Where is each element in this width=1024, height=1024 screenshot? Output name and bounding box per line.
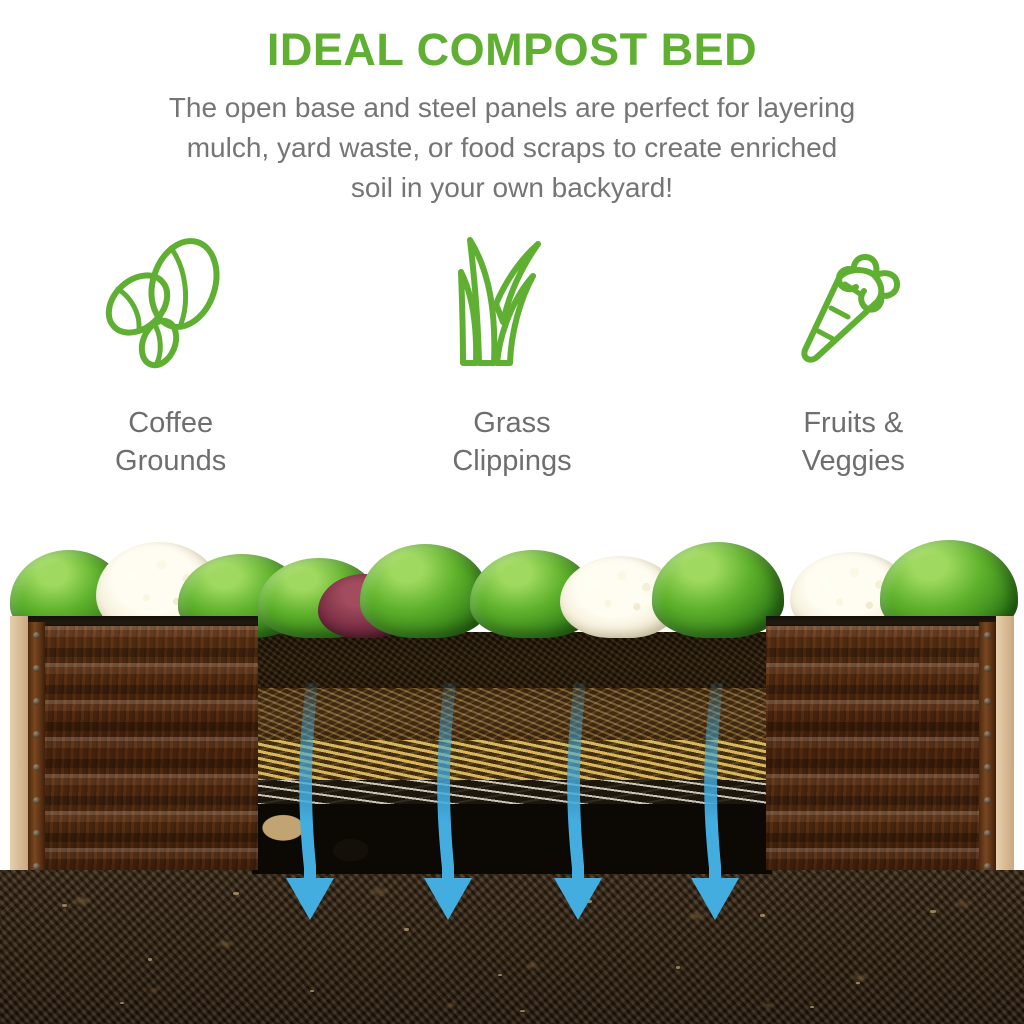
feature-label-line-1: Grass bbox=[452, 404, 571, 442]
subtitle-line-2: mulch, yard waste, or food scraps to cre… bbox=[72, 128, 952, 168]
panel-rivet bbox=[984, 797, 991, 804]
feature-label-line-2: Grounds bbox=[115, 442, 226, 480]
feature-label-line-2: Clippings bbox=[452, 442, 571, 480]
feature-label-line-2: Veggies bbox=[802, 442, 905, 480]
panel-rivet bbox=[984, 863, 991, 870]
panel-rivet bbox=[33, 797, 40, 804]
ground-soil bbox=[0, 870, 1024, 1024]
soil-speck bbox=[520, 1010, 525, 1012]
compost-material-list: Coffee Grounds Grass Clippings bbox=[0, 232, 1024, 482]
panel-rivet bbox=[33, 632, 40, 639]
subtitle-line-3: soil in your own backyard! bbox=[72, 168, 952, 208]
soil-speck bbox=[233, 892, 239, 895]
panel-rivet bbox=[984, 632, 991, 639]
feature-fruits-veggies: Fruits & Veggies bbox=[703, 232, 1003, 481]
soil-speck bbox=[930, 910, 936, 913]
panel-rivet bbox=[984, 731, 991, 738]
feature-grass-clippings: Grass Clippings bbox=[362, 232, 662, 481]
soil-speck bbox=[676, 966, 680, 969]
panel-rivet bbox=[984, 830, 991, 837]
right-corrugated-steel-panel bbox=[766, 616, 1014, 870]
rivet-rail bbox=[979, 622, 996, 870]
feature-label-line-1: Fruits & bbox=[802, 404, 905, 442]
infographic-canvas: IDEAL COMPOST BED The open base and stee… bbox=[0, 0, 1024, 1024]
feature-label-grass-clippings: Grass Clippings bbox=[452, 404, 571, 481]
left-corrugated-steel-panel bbox=[10, 616, 258, 870]
soil-speck bbox=[810, 1006, 814, 1008]
panel-rivet bbox=[33, 698, 40, 705]
feature-label-fruits-veggies: Fruits & Veggies bbox=[802, 404, 905, 481]
compost-mulch-layer bbox=[252, 688, 772, 740]
soil-speck bbox=[62, 904, 67, 907]
soil-speck bbox=[148, 958, 152, 961]
panel-rivet bbox=[984, 698, 991, 705]
panel-rivet bbox=[33, 863, 40, 870]
soil-speck bbox=[856, 982, 860, 984]
soil-speck bbox=[310, 990, 314, 992]
grass-blades-icon bbox=[437, 232, 587, 382]
coffee-beans-icon bbox=[96, 232, 246, 382]
panel-corrugation bbox=[766, 626, 1014, 870]
soil-cross-section bbox=[252, 632, 772, 874]
panel-corrugation bbox=[10, 626, 258, 870]
cabbage-plant bbox=[652, 542, 784, 638]
soil-speck bbox=[404, 928, 409, 931]
raised-garden-bed-cutaway-illustration bbox=[0, 508, 1024, 1024]
soil-speck bbox=[498, 974, 502, 976]
panel-rivet bbox=[33, 830, 40, 837]
page-title: IDEAL COMPOST BED bbox=[0, 26, 1024, 75]
feature-label-line-1: Coffee bbox=[115, 404, 226, 442]
soil-speck bbox=[760, 914, 765, 917]
panel-rivet bbox=[33, 665, 40, 672]
feature-label-coffee-grounds: Coffee Grounds bbox=[115, 404, 226, 481]
page-subtitle: The open base and steel panels are perfe… bbox=[72, 88, 952, 207]
carrot-icon bbox=[778, 232, 928, 382]
corner-post bbox=[10, 616, 28, 870]
panel-rivet bbox=[984, 665, 991, 672]
panel-rivet bbox=[984, 764, 991, 771]
twigs-layer bbox=[252, 780, 772, 804]
subtitle-line-1: The open base and steel panels are perfe… bbox=[72, 88, 952, 128]
corner-post bbox=[996, 616, 1014, 870]
soil-speck bbox=[586, 900, 592, 903]
topsoil-layer bbox=[252, 632, 772, 688]
straw-layer bbox=[252, 740, 772, 780]
soil-speck bbox=[120, 1002, 124, 1004]
panel-rivet bbox=[33, 731, 40, 738]
log-wood-layer bbox=[252, 804, 772, 874]
panel-rivet bbox=[33, 764, 40, 771]
feature-coffee-grounds: Coffee Grounds bbox=[21, 232, 321, 481]
rivet-rail bbox=[28, 622, 45, 870]
